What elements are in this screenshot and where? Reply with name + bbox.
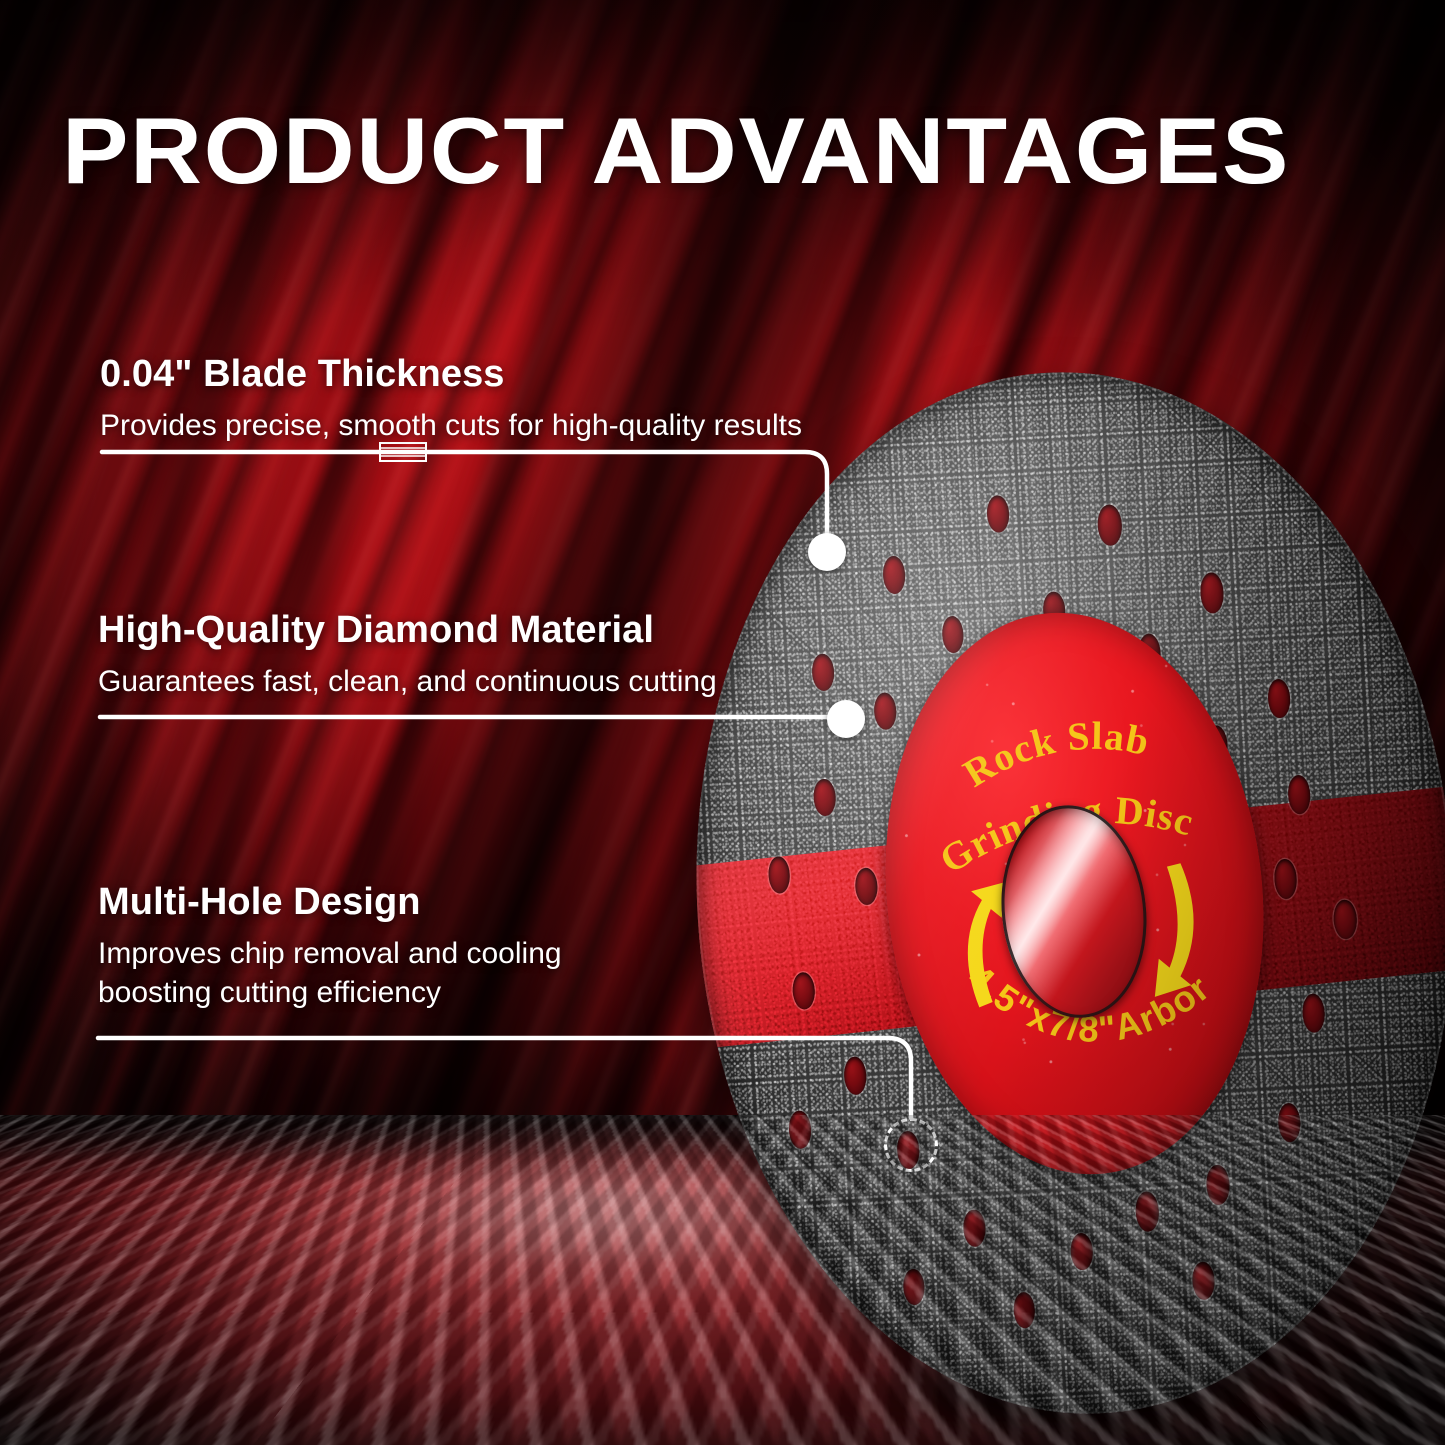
feature-1-description: Provides precise, smooth cuts for high-q… (100, 406, 802, 445)
disc-body: Rock Slab Grinding Disc 4.5"x7/8"Arbor (670, 353, 1445, 1433)
callout-dot-2 (827, 700, 865, 738)
feature-3-description: Improves chip removal and cooling boosti… (98, 934, 562, 1012)
feature-2-description: Guarantees fast, clean, and continuous c… (98, 662, 717, 701)
feature-diamond-material: High-Quality Diamond Material Guarantees… (98, 608, 717, 701)
callout-dashed-ring-3 (884, 1118, 938, 1172)
feature-3-desc-line-1: Improves chip removal and cooling (98, 934, 562, 973)
product-advantages-infographic: Rock Slab Grinding Disc 4.5"x7/8"Arbor (0, 0, 1445, 1445)
callout-dot-1 (808, 533, 846, 571)
feature-3-title: Multi-Hole Design (98, 880, 562, 925)
feature-multi-hole-design: Multi-Hole Design Improves chip removal … (98, 880, 562, 1012)
grinding-disc-product-image: Rock Slab Grinding Disc 4.5"x7/8"Arbor (697, 372, 1445, 1414)
feature-2-desc-line-1: Guarantees fast, clean, and continuous c… (98, 662, 717, 701)
feature-1-title: 0.04" Blade Thickness (100, 352, 802, 397)
feature-blade-thickness: 0.04" Blade Thickness Provides precise, … (100, 352, 802, 445)
feature-1-desc-line-1: Provides precise, smooth cuts for high-q… (100, 406, 802, 445)
feature-2-title: High-Quality Diamond Material (98, 608, 717, 653)
feature-3-desc-line-2: boosting cutting efficiency (98, 973, 562, 1012)
page-title: PRODUCT ADVANTAGES (62, 104, 1445, 198)
